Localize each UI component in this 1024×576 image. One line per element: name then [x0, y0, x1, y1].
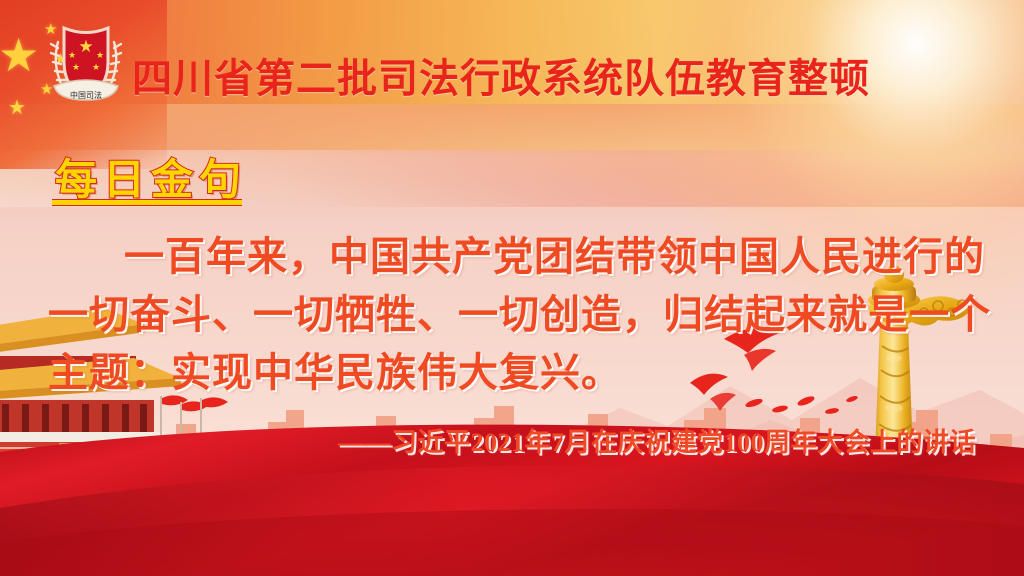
svg-text:★: ★	[78, 37, 93, 57]
quote-attribution: ——习近平2021年7月在庆祝建党100周年大会上的讲话	[338, 422, 976, 459]
quote-line-3: 主题：实现中华民族伟大复兴。	[48, 344, 978, 402]
china-judicial-administration-emblem: ★ ★ ★ ★ ★ 中国司法	[34, 14, 138, 118]
quote-line-2: 一切奋斗、一切牺牲、一切创造，归结起来就是一个	[48, 286, 978, 344]
svg-text:★: ★	[72, 63, 80, 73]
section-heading-underline	[52, 200, 242, 205]
quote-line-1: 一百年来，中国共产党团结带领中国人民进行的	[48, 228, 978, 286]
flag-star-small-4: ★	[8, 98, 26, 118]
svg-text:★: ★	[68, 51, 76, 61]
page-title: 四川省第二批司法行政系统队伍教育整顿	[132, 46, 870, 104]
section-heading: 每日金句	[55, 146, 247, 207]
svg-text:★: ★	[96, 51, 104, 61]
quote-block: 一百年来，中国共产党团结带领中国人民进行的 一切奋斗、一切牺牲、一切创造，归结起…	[48, 228, 978, 402]
svg-text:★: ★	[92, 63, 100, 73]
emblem-caption: 中国司法	[70, 90, 102, 100]
poster-canvas: ★ ★ ★ ★ ★	[0, 0, 1024, 576]
